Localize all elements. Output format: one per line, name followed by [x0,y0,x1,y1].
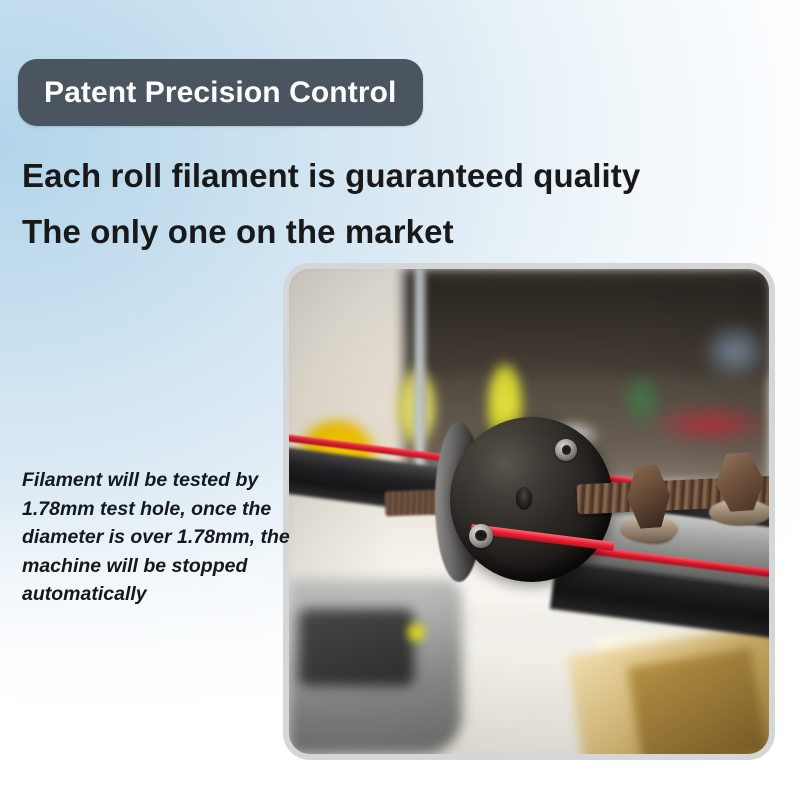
caption-line-1: Filament will be tested by [22,466,288,495]
promo-banner: Patent Precision Control Each roll filam… [0,0,800,800]
caption-line-5: automatically [22,580,288,609]
photo-test-hole [516,487,532,509]
headline-line-1: Each roll filament is guaranteed quality [22,148,640,204]
product-photo [289,269,769,754]
caption-line-3: diameter is over 1.78mm, the [22,523,288,552]
patent-badge-label: Patent Precision Control [44,78,396,108]
headline: Each roll filament is guaranteed quality… [22,148,640,260]
photo-machine-yellow-knob [404,618,428,647]
product-photo-frame [283,263,775,760]
photo-cardboard-box-inner [627,648,767,754]
photo-red-object [654,405,769,444]
photo-machine-dark-part [299,609,414,687]
filament-test-caption: Filament will be tested by 1.78mm test h… [22,466,288,609]
caption-line-4: machine will be stopped [22,552,288,581]
photo-blue-blur [702,322,769,380]
patent-badge: Patent Precision Control [18,59,423,126]
caption-line-2: 1.78mm test hole, once the [22,495,288,524]
headline-line-2: The only one on the market [22,204,640,260]
photo-hex-screw-lower [469,524,493,548]
